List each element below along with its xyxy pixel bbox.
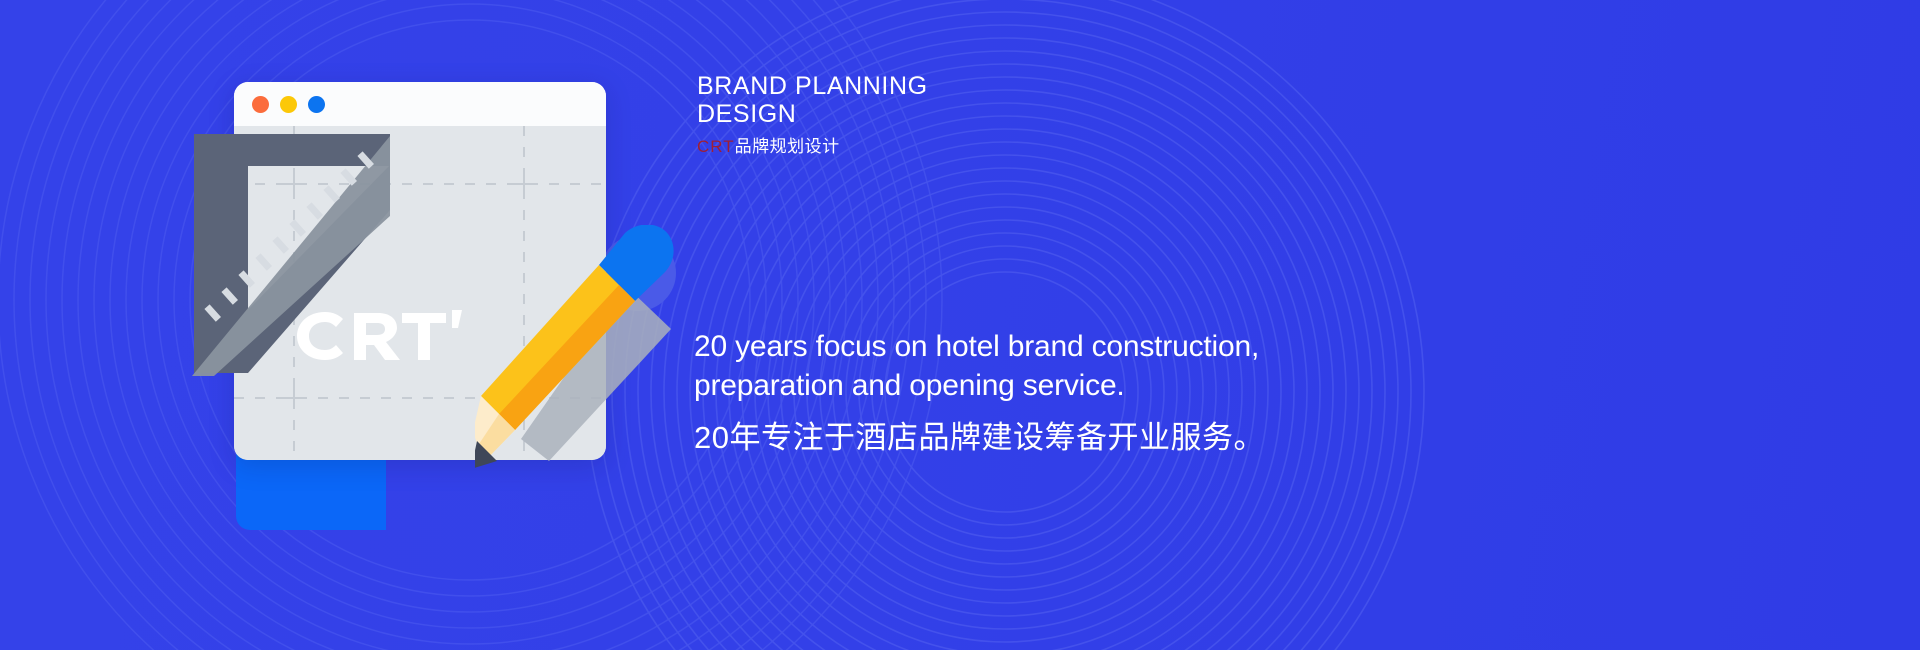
headline-block: BRAND PLANNING DESIGN CRT品牌规划设计 (697, 72, 1257, 158)
tagline-chinese: 20年专注于酒店品牌建设筹备开业服务。 (694, 418, 1394, 458)
page-title: BRAND PLANNING DESIGN (697, 72, 1257, 128)
window-titlebar (234, 82, 606, 126)
brand-banner: BRAND PLANNING DESIGN CRT品牌规划设计 20 years… (0, 0, 1920, 650)
hero-illustration (190, 70, 690, 470)
tagline-english: 20 years focus on hotel brand constructi… (694, 327, 1394, 405)
minimize-dot-icon (280, 96, 297, 113)
subheadline: CRT品牌规划设计 (697, 136, 1257, 158)
tagline-block: 20 years focus on hotel brand constructi… (694, 327, 1394, 458)
subheadline-text: 品牌规划设计 (735, 137, 840, 156)
brand-mark-crt: CRT (697, 137, 735, 156)
pencil-icon (475, 225, 685, 475)
close-dot-icon (252, 96, 269, 113)
maximize-dot-icon (308, 96, 325, 113)
triangle-ruler-icon (190, 130, 420, 380)
